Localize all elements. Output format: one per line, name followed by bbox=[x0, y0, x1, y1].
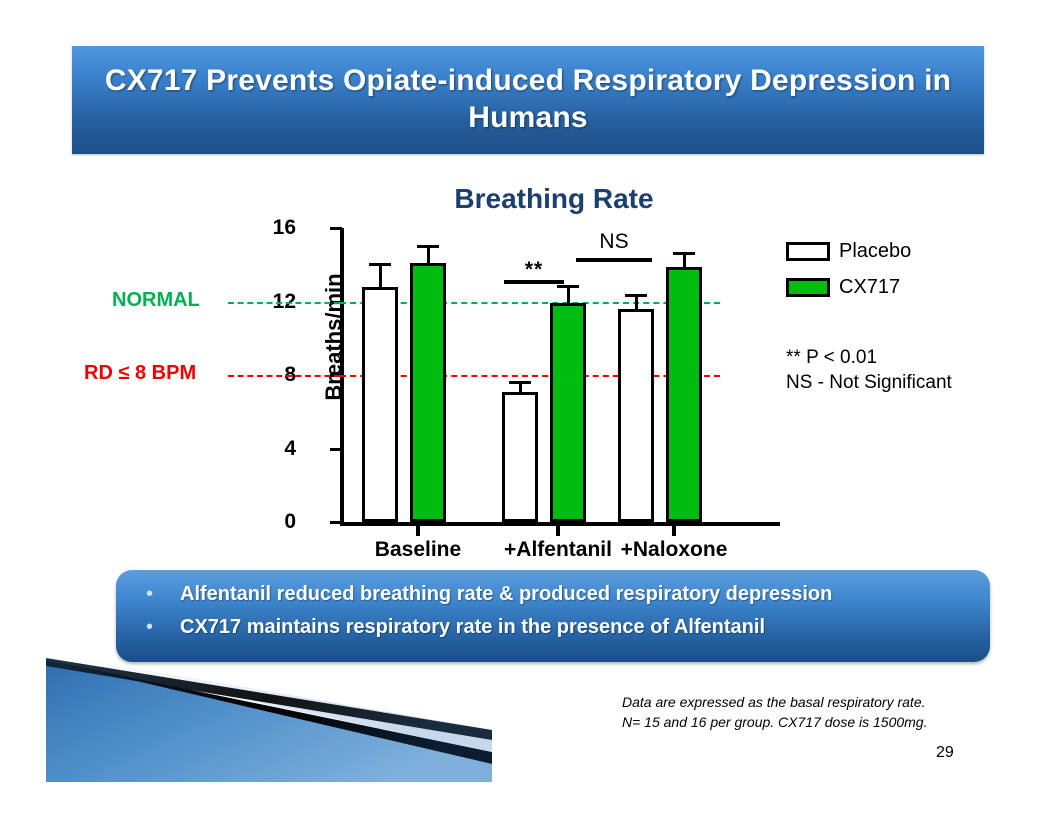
x-tick-mark bbox=[672, 526, 676, 536]
slide: CX717 Prevents Opiate-induced Respirator… bbox=[0, 0, 1056, 816]
significance-label-stars: ** bbox=[525, 258, 543, 282]
x-tick-mark bbox=[416, 526, 420, 536]
y-tick-mark bbox=[330, 448, 342, 451]
stats-note-line-1: ** P < 0.01 bbox=[786, 345, 952, 370]
footnote-line-1: Data are expressed as the basal respirat… bbox=[622, 692, 927, 712]
statistics-note: ** P < 0.01 NS - Not Significant bbox=[786, 345, 952, 395]
x-tick-mark bbox=[556, 526, 560, 536]
reference-label-rd-8-bpm: RD ≤ 8 BPM bbox=[84, 362, 196, 385]
error-bar-cap bbox=[417, 245, 439, 248]
x-axis-line bbox=[340, 522, 780, 526]
conclusions-box: •Alfentanil reduced breathing rate & pro… bbox=[116, 570, 990, 662]
bar-plus-alfentanil-placebo bbox=[502, 392, 538, 522]
legend-swatch-cx717 bbox=[786, 278, 830, 297]
page-title: CX717 Prevents Opiate-induced Respirator… bbox=[72, 63, 984, 136]
conclusion-bullet-1: •Alfentanil reduced breathing rate & pro… bbox=[146, 583, 990, 606]
y-tick-label: 0 bbox=[284, 510, 296, 534]
legend-swatch-placebo bbox=[786, 242, 830, 261]
chart-title: Breathing Rate bbox=[404, 182, 704, 214]
x-axis-label-plus-alfentanil: +Alfentanil bbox=[504, 538, 612, 562]
bar-baseline-cx717 bbox=[410, 263, 446, 522]
footnote: Data are expressed as the basal respirat… bbox=[622, 692, 927, 733]
reference-line-connector bbox=[228, 302, 340, 304]
y-tick-label: 16 bbox=[273, 216, 296, 240]
bar-plus-naloxone-placebo bbox=[618, 309, 654, 522]
significance-label-ns: NS bbox=[599, 230, 628, 254]
y-axis-title: Breaths/min bbox=[321, 247, 347, 427]
reference-label-normal: NORMAL bbox=[112, 289, 200, 312]
bar-baseline-placebo bbox=[362, 287, 398, 522]
footnote-line-2: N= 15 and 16 per group. CX717 dose is 15… bbox=[622, 712, 927, 732]
error-bar-stem bbox=[379, 263, 382, 287]
y-tick-mark bbox=[330, 521, 342, 524]
error-bar-cap bbox=[625, 294, 647, 297]
decorative-corner-graphic bbox=[46, 652, 492, 782]
conclusion-bullet-text: CX717 maintains respiratory rate in the … bbox=[180, 616, 765, 639]
conclusion-bullet-text: Alfentanil reduced breathing rate & prod… bbox=[180, 583, 832, 606]
bar-plus-naloxone-cx717 bbox=[666, 267, 702, 522]
legend-label-cx717: CX717 bbox=[839, 276, 900, 299]
error-bar-cap bbox=[509, 381, 531, 384]
chart-legend: PlaceboCX717 bbox=[786, 240, 996, 312]
y-tick-mark bbox=[330, 227, 342, 230]
legend-item-placebo: Placebo bbox=[786, 240, 996, 263]
conclusion-bullet-2: •CX717 maintains respiratory rate in the… bbox=[146, 616, 990, 639]
legend-item-cx717: CX717 bbox=[786, 276, 996, 299]
bar-plus-alfentanil-cx717 bbox=[550, 303, 586, 522]
reference-line-connector bbox=[228, 375, 340, 377]
page-number: 29 bbox=[936, 744, 954, 762]
error-bar-cap bbox=[369, 263, 391, 266]
bullet-marker-icon: • bbox=[146, 584, 180, 604]
stats-note-line-2: NS - Not Significant bbox=[786, 370, 952, 395]
error-bar-cap bbox=[557, 285, 579, 288]
bullet-marker-icon: • bbox=[146, 617, 180, 637]
error-bar-cap bbox=[673, 252, 695, 255]
slide-title-banner: CX717 Prevents Opiate-induced Respirator… bbox=[72, 46, 984, 154]
x-axis-label-baseline: Baseline bbox=[375, 538, 461, 562]
bar-chart-plot: Breaths/min 0481216 Baseline+Alfentanil+… bbox=[300, 228, 780, 528]
legend-label-placebo: Placebo bbox=[839, 240, 911, 263]
significance-bar bbox=[576, 258, 652, 262]
x-axis-label-plus-naloxone: +Naloxone bbox=[621, 538, 728, 562]
y-tick-label: 4 bbox=[284, 437, 296, 461]
